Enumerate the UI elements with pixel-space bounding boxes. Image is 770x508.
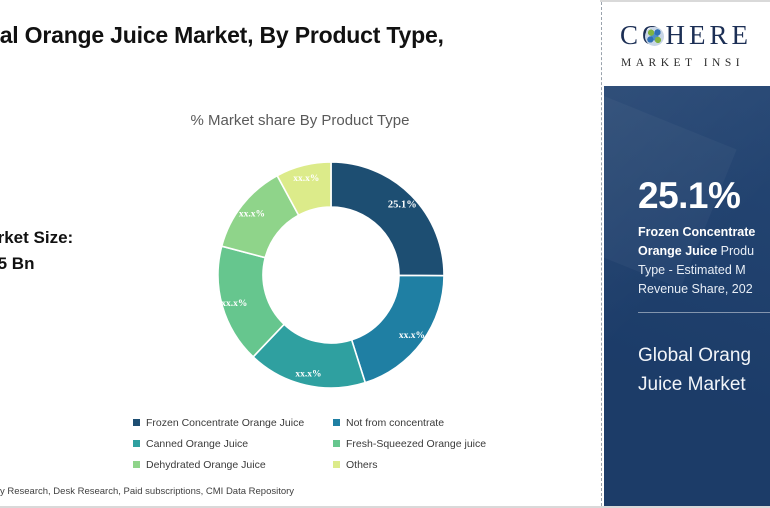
stat-description: Frozen Concentrate Orange Juice Produ Ty… bbox=[638, 223, 770, 299]
page-title: obal Orange Juice Market, By Product Typ… bbox=[0, 20, 542, 81]
side-panel: COHERE MARKET INSI 25.1% Frozen Concentr… bbox=[604, 2, 770, 506]
legend-item[interactable]: Dehydrated Orange Juice bbox=[133, 459, 333, 471]
stat-separator-rule bbox=[638, 312, 770, 313]
donut-slice bbox=[352, 275, 444, 382]
main-content-panel: obal Orange Juice Market, By Product Typ… bbox=[0, 0, 600, 508]
donut-slice-label: xx.x% bbox=[239, 209, 265, 219]
brand-logo-wordmark: COHERE bbox=[620, 20, 752, 51]
donut-slice-label: xx.x% bbox=[295, 369, 321, 379]
brand-logo-tagline: MARKET INSI bbox=[621, 57, 744, 69]
donut-chart: 25.1%xx.x%xx.x%xx.x%xx.x%xx.x% bbox=[216, 160, 446, 390]
highlight-stat-card: 25.1% Frozen Concentrate Orange Juice Pr… bbox=[604, 86, 770, 506]
legend-item[interactable]: Fresh-Squeezed Orange juice bbox=[333, 438, 533, 450]
legend-swatch-icon bbox=[133, 419, 140, 426]
chart-subtitle: % Market share By Product Type bbox=[0, 112, 600, 129]
stat-desc-line-1: Frozen Concentrate bbox=[638, 225, 755, 239]
panel-divider bbox=[601, 2, 602, 506]
legend-item-label: Others bbox=[346, 459, 378, 471]
donut-slice-label: 25.1% bbox=[388, 200, 417, 211]
stat-desc-line-2-rest: Produ bbox=[717, 244, 754, 258]
globe-icon bbox=[645, 27, 664, 46]
legend-swatch-icon bbox=[133, 461, 140, 468]
panel-footer-title: Global Orang Juice Market bbox=[638, 342, 770, 399]
infographic-slide: obal Orange Juice Market, By Product Typ… bbox=[0, 0, 770, 508]
legend-swatch-icon bbox=[333, 440, 340, 447]
donut-slice-label: xx.x% bbox=[293, 174, 319, 184]
donut-slice-group bbox=[218, 162, 444, 388]
stat-desc-line-4: Revenue Share, 202 bbox=[638, 280, 770, 299]
source-note: Primary Research, Desk Research, Paid su… bbox=[0, 486, 294, 497]
stat-desc-line-2-strong: Orange Juice bbox=[638, 244, 717, 258]
legend-item-label: Canned Orange Juice bbox=[146, 438, 248, 450]
legend-swatch-icon bbox=[333, 461, 340, 468]
legend-item-label: Dehydrated Orange Juice bbox=[146, 459, 266, 471]
stat-desc-line-3: Type - Estimated M bbox=[638, 261, 770, 280]
legend-item[interactable]: Frozen Concentrate Orange Juice bbox=[133, 417, 333, 429]
brand-logo: COHERE MARKET INSI bbox=[604, 2, 770, 82]
donut-chart-svg: 25.1%xx.x%xx.x%xx.x%xx.x%xx.x% bbox=[216, 160, 446, 390]
donut-slice-label: xx.x% bbox=[399, 331, 425, 341]
market-size-callout: Market Size: 7.45 Bn bbox=[0, 225, 184, 276]
legend-item[interactable]: Others bbox=[333, 459, 533, 471]
chart-legend: Frozen Concentrate Orange JuiceNot from … bbox=[133, 412, 533, 475]
donut-slice bbox=[331, 162, 444, 276]
stat-value: 25.1% bbox=[638, 175, 740, 217]
legend-item[interactable]: Not from concentrate bbox=[333, 417, 533, 429]
legend-item-label: Not from concentrate bbox=[346, 417, 444, 429]
legend-swatch-icon bbox=[133, 440, 140, 447]
legend-item-label: Frozen Concentrate Orange Juice bbox=[146, 417, 304, 429]
legend-item[interactable]: Canned Orange Juice bbox=[133, 438, 333, 450]
donut-slice-label: xx.x% bbox=[221, 299, 247, 309]
legend-swatch-icon bbox=[333, 419, 340, 426]
legend-item-label: Fresh-Squeezed Orange juice bbox=[346, 438, 486, 450]
